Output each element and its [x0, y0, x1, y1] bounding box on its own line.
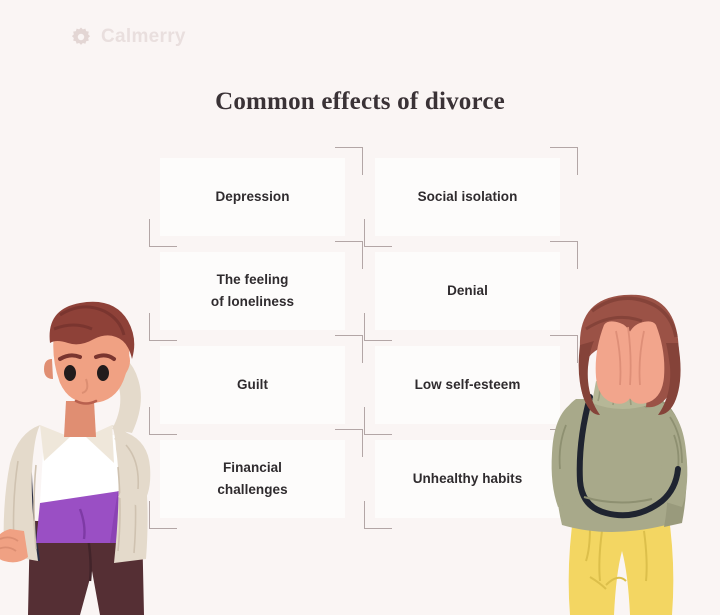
- effect-card-label: Guilt: [237, 374, 268, 396]
- effect-card[interactable]: Low self-esteem: [375, 346, 560, 424]
- effect-card-label: Denial: [447, 280, 488, 302]
- infographic-canvas: Calmerry Common effects of divorce Depre…: [0, 0, 720, 615]
- effect-card[interactable]: Denial: [375, 252, 560, 330]
- effect-card-label: Low self-esteem: [415, 374, 521, 396]
- worried-man-illustration: [0, 285, 182, 615]
- effect-card[interactable]: Guilt: [160, 346, 345, 424]
- brand-logo: Calmerry: [70, 26, 186, 48]
- brand-name: Calmerry: [101, 26, 186, 48]
- effect-card[interactable]: Financial challenges: [160, 440, 345, 518]
- effect-cell: Unhealthy habits: [375, 440, 560, 518]
- page-title: Common effects of divorce: [0, 88, 720, 116]
- effects-grid: Depression The feeling of loneliness Gui…: [160, 158, 560, 538]
- effect-cell: The feeling of loneliness: [160, 252, 345, 330]
- calmerry-flower-gear-icon: [70, 26, 92, 48]
- effect-cell: Low self-esteem: [375, 346, 560, 424]
- effect-cell: Guilt: [160, 346, 345, 424]
- effect-card[interactable]: Social isolation: [375, 158, 560, 236]
- effect-card-label: Financial challenges: [217, 457, 287, 501]
- effect-cell: Financial challenges: [160, 440, 345, 518]
- effect-card-label: Unhealthy habits: [413, 468, 523, 490]
- effect-cell: Depression: [160, 158, 345, 236]
- effect-card-label: The feeling of loneliness: [211, 269, 294, 313]
- effect-card-label: Depression: [215, 186, 289, 208]
- effect-card-label: Social isolation: [418, 186, 518, 208]
- effect-cell: Social isolation: [375, 158, 560, 236]
- effect-cell: Denial: [375, 252, 560, 330]
- effect-card[interactable]: Depression: [160, 158, 345, 236]
- effect-card[interactable]: Unhealthy habits: [375, 440, 560, 518]
- effect-card[interactable]: The feeling of loneliness: [160, 252, 345, 330]
- crying-woman-illustration: [546, 285, 720, 615]
